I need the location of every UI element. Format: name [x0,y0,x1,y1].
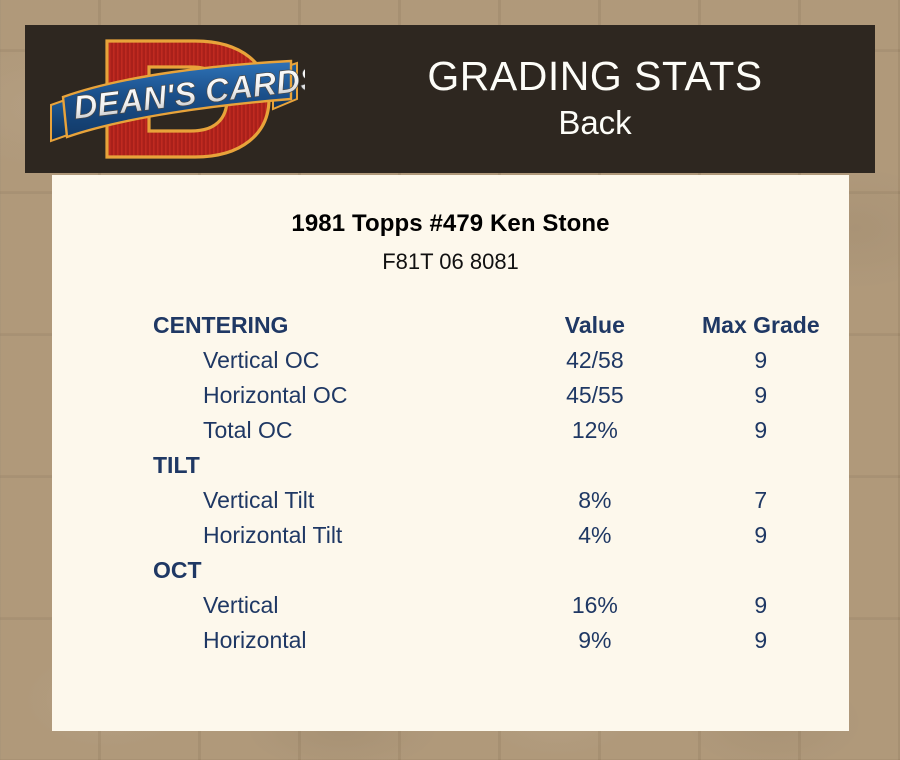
section-label: OCT [52,553,517,588]
column-header-value: Value [517,308,673,343]
header-bar: DEAN'S CARDS GRADING STATS Back [25,25,875,173]
row-label: Vertical Tilt [52,483,517,518]
row-label: Total OC [52,413,517,448]
section-label: TILT [52,448,517,483]
table-row: Vertical16%9 [52,588,849,623]
content-panel: 1981 Topps #479 Ken Stone F81T 06 8081 C… [52,175,849,731]
row-value [517,448,673,483]
column-header-label: CENTERING [52,308,517,343]
row-grade: 9 [673,623,849,658]
row-grade: 7 [673,483,849,518]
table-row: Horizontal Tilt4%9 [52,518,849,553]
row-grade [673,553,849,588]
row-value: 45/55 [517,378,673,413]
row-value: 16% [517,588,673,623]
row-value [517,553,673,588]
grading-stats-table: CENTERINGValueMax GradeVertical OC42/589… [52,308,849,658]
row-grade: 9 [673,413,849,448]
row-value: 42/58 [517,343,673,378]
row-value: 12% [517,413,673,448]
table-section-row: TILT [52,448,849,483]
row-grade: 9 [673,378,849,413]
row-label: Vertical OC [52,343,517,378]
row-label: Horizontal OC [52,378,517,413]
row-grade [673,448,849,483]
page-title: GRADING STATS [427,55,762,98]
row-value: 9% [517,623,673,658]
page-subtitle: Back [558,102,631,143]
header-title-group: GRADING STATS Back [315,25,875,173]
column-header-grade: Max Grade [673,308,849,343]
row-label: Horizontal [52,623,517,658]
table-row: Vertical Tilt8%7 [52,483,849,518]
row-grade: 9 [673,343,849,378]
table-row: Horizontal OC45/559 [52,378,849,413]
card-code: F81T 06 8081 [52,249,849,275]
row-grade: 9 [673,518,849,553]
card-title: 1981 Topps #479 Ken Stone [52,210,849,238]
deans-cards-logo[interactable]: DEAN'S CARDS [45,27,305,171]
row-label: Vertical [52,588,517,623]
table-row: Total OC12%9 [52,413,849,448]
table-section-row: OCT [52,553,849,588]
row-value: 4% [517,518,673,553]
row-label: Horizontal Tilt [52,518,517,553]
row-value: 8% [517,483,673,518]
row-grade: 9 [673,588,849,623]
logo-svg: DEAN'S CARDS [45,27,305,171]
table-header-row: CENTERINGValueMax Grade [52,308,849,343]
table-row: Horizontal9%9 [52,623,849,658]
grading-stats-body: CENTERINGValueMax GradeVertical OC42/589… [52,308,849,658]
table-row: Vertical OC42/589 [52,343,849,378]
